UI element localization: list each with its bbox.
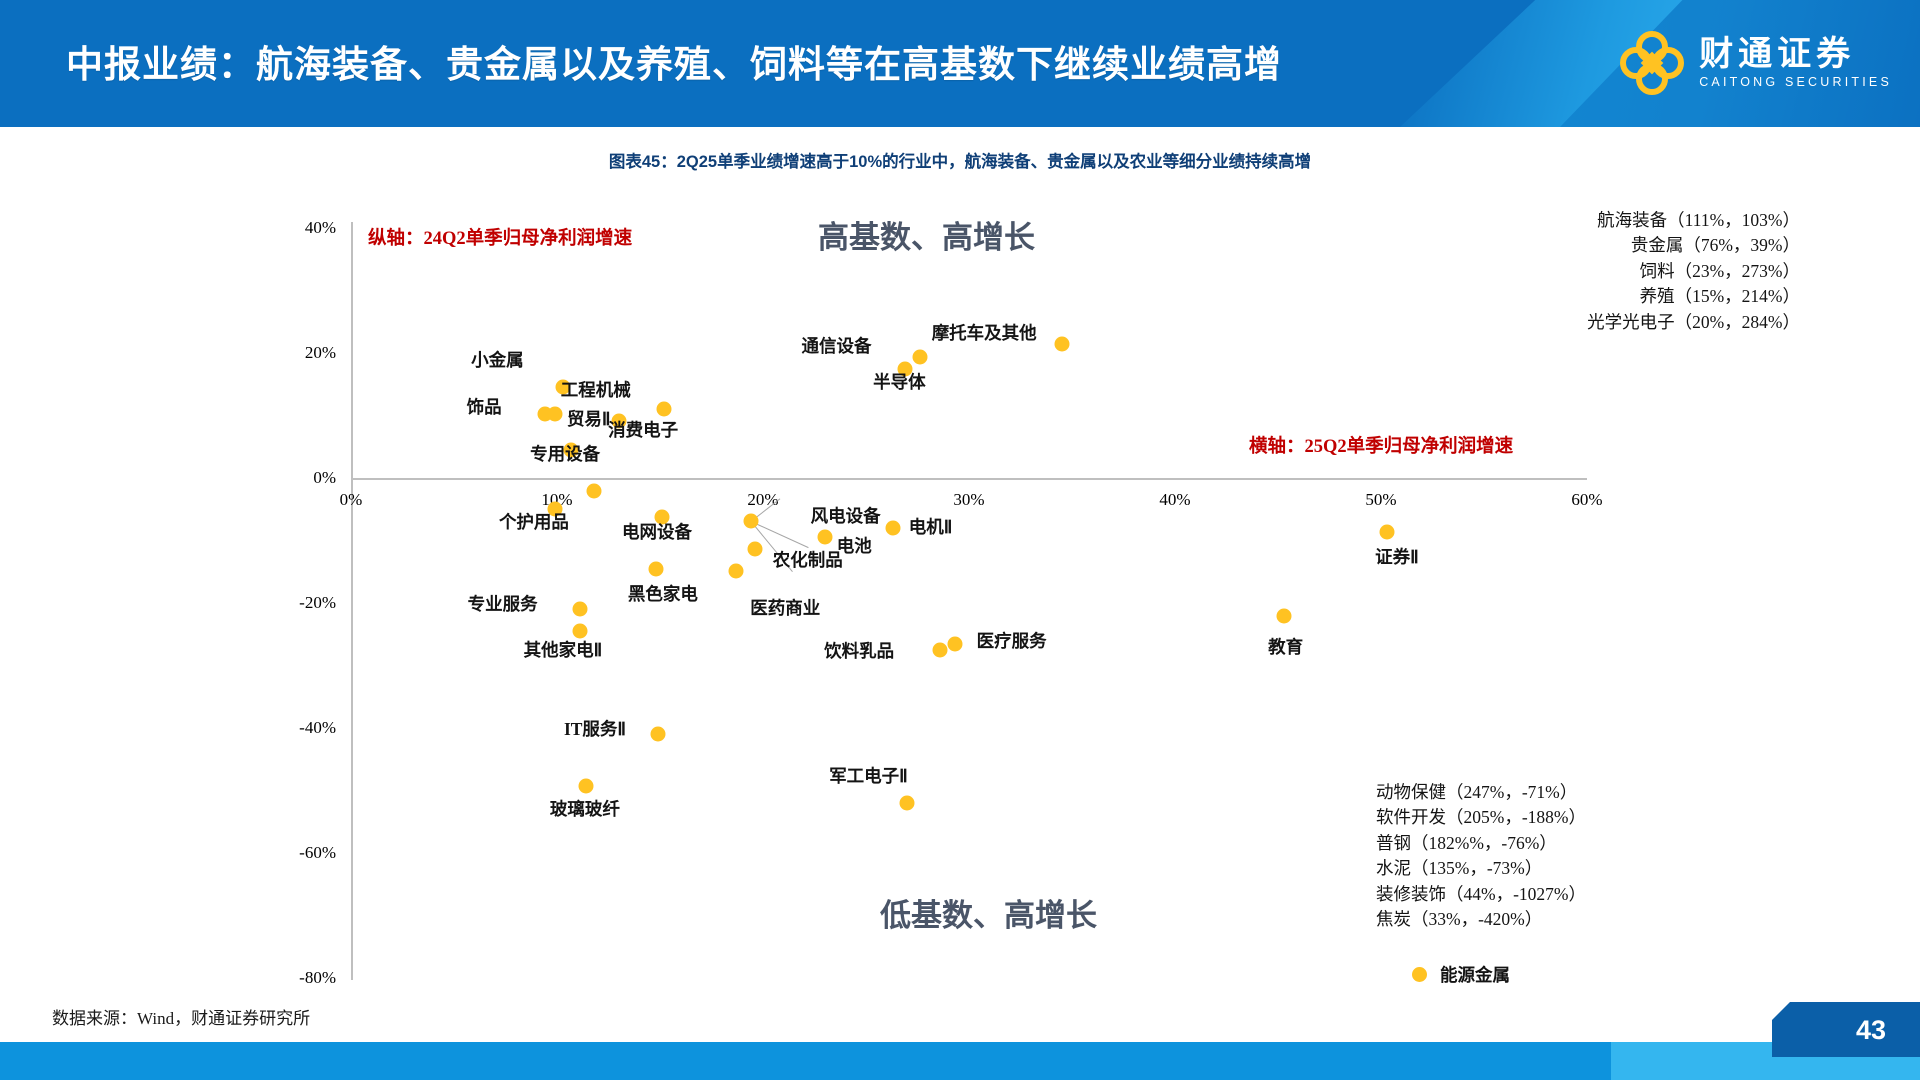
data-point-label: 医疗服务	[977, 628, 1047, 653]
y-axis-line	[351, 222, 353, 980]
data-point-label: 电机Ⅱ	[909, 514, 953, 539]
y-axis-tick: -40%	[276, 718, 336, 738]
data-point-marker	[657, 402, 672, 417]
offchart-note-item: 装修装饰（44%，-1027%）	[1376, 882, 1856, 907]
y-axis-tick: 20%	[276, 343, 336, 363]
data-point-label: 电网设备	[622, 519, 692, 544]
x-axis-tick: 30%	[953, 490, 984, 510]
data-point-label: 半导体	[873, 369, 926, 394]
data-point-label: 其他家电Ⅱ	[524, 637, 603, 662]
data-point-marker	[817, 529, 832, 544]
offchart-note-list-top: 航海装备（111%，103%）贵金属（76%，39%）饲料（23%，273%）养…	[1280, 208, 1800, 335]
data-point-label: 玻璃玻纤	[550, 796, 620, 821]
data-point-marker	[947, 636, 962, 651]
offchart-note-item: 养殖（15%，214%）	[1280, 284, 1800, 309]
offchart-note-item: 焦炭（33%，-420%）	[1376, 907, 1856, 932]
x-axis-tick: 50%	[1365, 490, 1396, 510]
scatter-chart: 高基数、高增长 低基数、高增长 纵轴：24Q2单季归母净利润增速 横轴：25Q2…	[0, 0, 1920, 1080]
data-point-marker	[747, 541, 762, 556]
data-point-label: 黑色家电	[628, 581, 698, 606]
data-point-marker	[1412, 967, 1427, 982]
x-axis-tick: 0%	[340, 490, 363, 510]
offchart-note-item: 航海装备（111%，103%）	[1280, 208, 1800, 233]
data-point-marker	[648, 561, 663, 576]
data-point-marker	[729, 564, 744, 579]
offchart-note-item: 水泥（135%，-73%）	[1376, 856, 1856, 881]
x-axis-tick: 20%	[747, 490, 778, 510]
data-point-label: 摩托车及其他	[932, 320, 1037, 345]
x-axis-tick: 60%	[1571, 490, 1602, 510]
page-number: 43	[1856, 1015, 1886, 1046]
offchart-note-item: 动物保健（247%，-71%）	[1376, 780, 1856, 805]
x-axis-line	[351, 478, 1587, 480]
data-point-label: 军工电子Ⅱ	[829, 763, 908, 788]
data-point-label: 饰品	[467, 394, 502, 419]
energy-metal-entry: 能源金属	[1412, 962, 1510, 987]
data-point-label: 通信设备	[802, 333, 872, 358]
data-point-label: 消费电子	[608, 417, 678, 442]
y-axis-tick: -20%	[276, 593, 336, 613]
quadrant-label-bottom: 低基数、高增长	[880, 890, 1097, 935]
offchart-note-item: 软件开发（205%，-188%）	[1376, 805, 1856, 830]
x-axis-note: 横轴：25Q2单季归母净利润增速	[1249, 432, 1513, 458]
data-point-marker	[572, 602, 587, 617]
data-point-marker	[650, 727, 665, 742]
y-axis-note: 纵轴：24Q2单季归母净利润增速	[368, 226, 618, 253]
offchart-note-item: 光学光电子（20%，284%）	[1280, 310, 1800, 335]
data-point-label: 工程机械	[561, 377, 631, 402]
data-point-label: 风电设备	[811, 503, 881, 528]
offchart-note-item: 普钢（182%%，-76%）	[1376, 831, 1856, 856]
data-point-label: 教育	[1268, 634, 1303, 659]
y-axis-tick: 40%	[276, 218, 336, 238]
data-point-marker	[1380, 525, 1395, 540]
data-point-label: 证券Ⅱ	[1375, 544, 1419, 569]
data-point-marker	[1054, 336, 1069, 351]
data-point-label: 医药商业	[750, 595, 820, 620]
energy-metal-label: 能源金属	[1440, 962, 1510, 987]
offchart-note-item: 饲料（23%，273%）	[1280, 259, 1800, 284]
page-number-tab	[1772, 1002, 1920, 1057]
data-point-label: 农化制品	[773, 547, 843, 572]
data-point-label: 专业服务	[468, 591, 538, 616]
y-axis-tick: -60%	[276, 843, 336, 863]
data-point-marker	[587, 483, 602, 498]
data-point-label: 专用设备	[530, 441, 600, 466]
data-point-marker	[743, 513, 758, 528]
data-point-marker	[912, 349, 927, 364]
data-point-marker	[885, 521, 900, 536]
data-point-label: 饮料乳品	[824, 638, 894, 663]
y-axis-tick: 0%	[276, 468, 336, 488]
offchart-note-item: 贵金属（76%，39%）	[1280, 233, 1800, 258]
data-point-label: 贸易Ⅱ	[567, 406, 611, 431]
data-point-marker	[933, 642, 948, 657]
offchart-note-list-bottom: 动物保健（247%，-71%）软件开发（205%，-188%）普钢（182%%，…	[1376, 780, 1856, 932]
footer-bar-left	[0, 1042, 1611, 1080]
data-point-marker	[900, 796, 915, 811]
data-point-marker	[547, 407, 562, 422]
data-source-note: 数据来源：Wind，财通证券研究所	[52, 1004, 310, 1029]
data-point-label: 个护用品	[499, 509, 569, 534]
data-point-marker	[1277, 608, 1292, 623]
data-point-marker	[578, 779, 593, 794]
data-point-label: IT服务Ⅱ	[564, 716, 626, 741]
data-point-label: 小金属	[471, 347, 524, 372]
quadrant-label-top: 高基数、高增长	[818, 212, 1035, 257]
x-axis-tick: 40%	[1159, 490, 1190, 510]
y-axis-tick: -80%	[276, 968, 336, 988]
